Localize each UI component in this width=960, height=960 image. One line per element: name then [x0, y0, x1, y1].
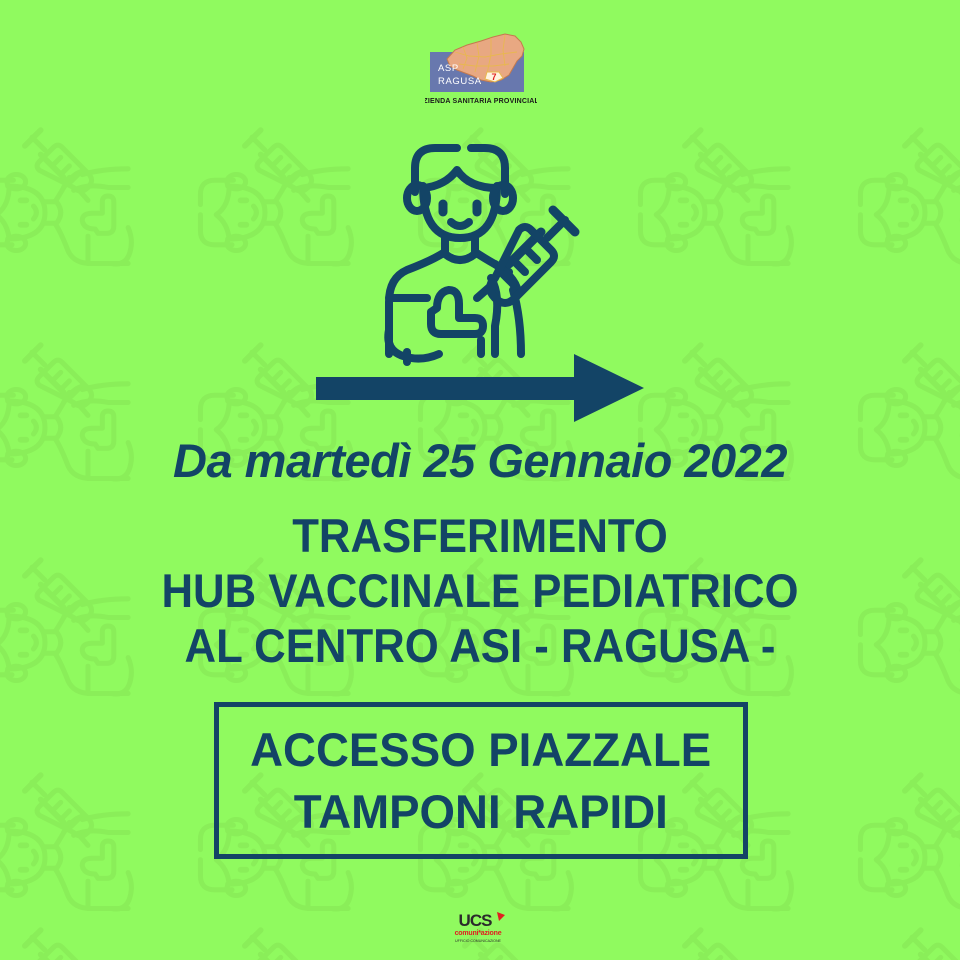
svg-text:UFFICIO COMUNICAZIONE: UFFICIO COMUNICAZIONE [455, 939, 502, 943]
svg-text:AZIENDA SANITARIA PROVINCIALE: AZIENDA SANITARIA PROVINCIALE [425, 98, 537, 105]
svg-text:comuni*azione: comuni*azione [455, 930, 502, 937]
callout-line-1: ACCESSO PIAZZALE [250, 719, 711, 781]
callout-line-2: TAMPONI RAPIDI [294, 781, 668, 843]
asp-ragusa-logo: 7 ASP RAGUSA AZIENDA SANITARIA PROVINCIA… [425, 28, 537, 108]
svg-text:RAGUSA: RAGUSA [438, 76, 482, 87]
svg-text:ASP: ASP [438, 63, 459, 74]
headline-line-1: TRASFERIMENTO [34, 508, 927, 563]
date-line: Da martedì 25 Gennaio 2022 [0, 432, 960, 490]
svg-text:7: 7 [491, 72, 496, 82]
boy-vaccination-illustration [345, 126, 610, 378]
right-arrow-icon [316, 352, 644, 424]
headline-block: TRASFERIMENTO HUB VACCINALE PEDIATRICO A… [0, 508, 960, 673]
headline-line-3: AL CENTRO ASI - RAGUSA - [34, 618, 927, 673]
callout-box: ACCESSO PIAZZALE TAMPONI RAPIDI [214, 702, 748, 859]
poster-canvas: 7 ASP RAGUSA AZIENDA SANITARIA PROVINCIA… [0, 0, 960, 960]
headline-line-2: HUB VACCINALE PEDIATRICO [34, 563, 927, 618]
poster-content: 7 ASP RAGUSA AZIENDA SANITARIA PROVINCIA… [0, 0, 960, 960]
ucs-comunicazione-logo: UCS comuni*azione UFFICIO COMUNICAZIONE [447, 908, 513, 948]
svg-text:UCS: UCS [459, 911, 493, 930]
